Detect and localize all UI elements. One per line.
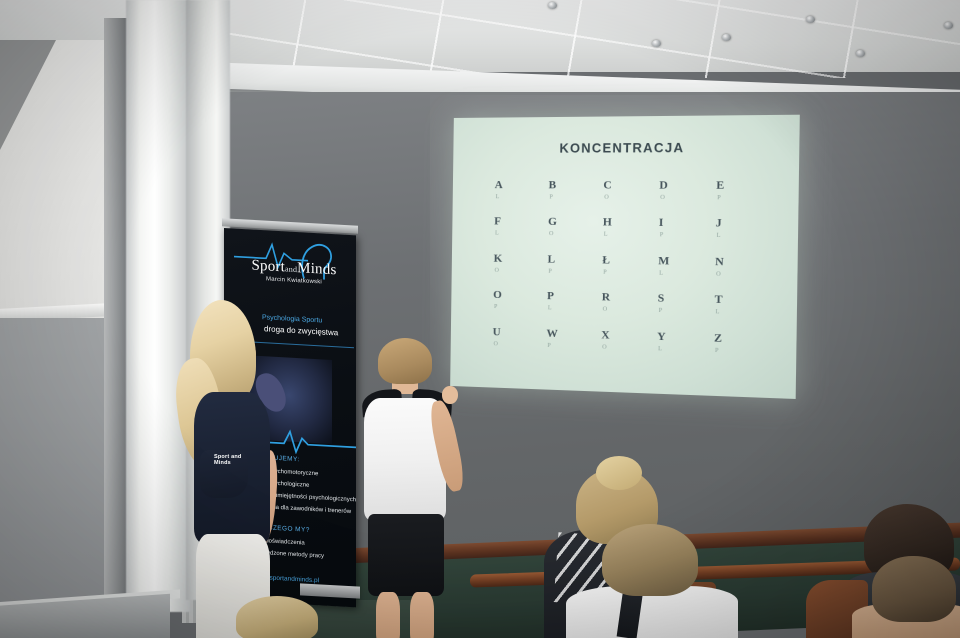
brand-sport: Sport — [251, 258, 285, 276]
letter-sub: L — [604, 232, 659, 239]
letter-main: H — [603, 218, 659, 230]
letter-main: X — [601, 330, 657, 343]
letter-sub: O — [493, 341, 546, 349]
letter-sub: L — [659, 270, 715, 277]
letter-main: G — [548, 217, 603, 229]
ceiling-spotlight-icon — [944, 22, 953, 29]
letter-sub: P — [494, 304, 547, 311]
presentation-room-photo: KONCENTRACJA ALBPCODOEPFLGOHLIPJLKOLPŁPM… — [0, 0, 960, 638]
audience-member-hair — [872, 556, 956, 622]
letter-sub: L — [717, 233, 774, 240]
letter-cell: FL — [494, 217, 548, 254]
boy-at-screen — [352, 338, 458, 638]
letter-main: S — [658, 293, 715, 306]
letter-sub: O — [604, 195, 659, 201]
letter-cell: OP — [493, 290, 547, 328]
letter-main: U — [493, 327, 547, 340]
letter-cell: YL — [657, 331, 714, 371]
letter-main: O — [493, 290, 547, 302]
letter-main: B — [548, 180, 603, 191]
ceiling-spotlight-icon — [722, 34, 731, 41]
letter-cell: AL — [494, 180, 548, 217]
letter-cell: BP — [548, 180, 603, 217]
letter-sub: P — [548, 268, 602, 275]
ceiling-spotlight-icon — [856, 50, 865, 57]
boy-shorts — [368, 514, 444, 596]
audience-member-hair — [602, 524, 698, 596]
presenter-shirt-logo: Sport and Minds — [214, 454, 248, 463]
letter-cell: SP — [657, 293, 715, 332]
letter-sub: P — [715, 347, 772, 355]
letter-sub: P — [603, 269, 658, 276]
letter-cell: RO — [601, 292, 657, 331]
slide-title: KONCENTRACJA — [453, 140, 799, 156]
letter-sub: O — [549, 231, 603, 238]
letter-sub: O — [660, 195, 716, 201]
letter-sub: P — [717, 195, 774, 202]
boy-hair — [378, 338, 432, 384]
letter-cell: LP — [547, 254, 602, 292]
letter-main: W — [546, 328, 601, 341]
letter-sub: P — [660, 233, 716, 240]
letter-sub: P — [659, 308, 715, 316]
letter-sub: L — [495, 231, 548, 238]
letter-sub: L — [658, 346, 714, 354]
letter-cell: JL — [715, 218, 774, 257]
letter-main: C — [603, 180, 659, 191]
letter-cell: GO — [548, 217, 603, 255]
boy-leg-right — [410, 592, 434, 638]
projected-slide: KONCENTRACJA ALBPCODOEPFLGOHLIPJLKOLPŁPM… — [450, 115, 800, 399]
boy-leg-left — [376, 592, 400, 638]
letter-sub: L — [496, 194, 549, 200]
ceiling-spotlight-icon — [548, 2, 557, 9]
letter-cell: HL — [602, 218, 658, 256]
boy-hand — [442, 386, 458, 404]
letter-cell: TL — [714, 295, 773, 335]
letter-cell: ML — [658, 256, 716, 295]
letter-main: Z — [714, 333, 772, 346]
left-wall-lower — [0, 318, 108, 638]
presenter-woman: Sport and Minds — [168, 300, 280, 638]
letter-grid: ALBPCODOEPFLGOHLIPJLKOLPŁPMLNOOPPLROSPTL… — [492, 180, 774, 373]
letter-main: K — [494, 253, 548, 265]
letter-cell: ŁP — [602, 255, 658, 294]
letter-main: F — [494, 217, 548, 229]
left-wall-corner — [0, 40, 56, 150]
letter-main: I — [659, 218, 716, 230]
letter-cell: EP — [716, 180, 775, 219]
letter-main: R — [602, 292, 658, 305]
brand-and: and — [285, 264, 297, 274]
letter-main: J — [716, 218, 774, 230]
letter-cell: WP — [546, 328, 601, 367]
letter-cell: PL — [547, 291, 602, 329]
letter-main: D — [659, 180, 716, 192]
letter-sub: O — [603, 307, 658, 314]
letter-sub: P — [549, 194, 603, 200]
letter-main: E — [716, 180, 774, 192]
projection-screen: KONCENTRACJA ALBPCODOEPFLGOHLIPJLKOLPŁPM… — [450, 115, 800, 399]
letter-cell: NO — [715, 257, 774, 296]
ceiling-spotlight-icon — [806, 16, 815, 23]
letter-cell: ZP — [714, 333, 773, 373]
letter-sub: O — [716, 271, 773, 278]
brand-minds: Minds — [297, 260, 336, 278]
letter-main: L — [547, 254, 602, 266]
ceiling-spotlight-icon — [652, 40, 661, 47]
letter-main: M — [658, 256, 715, 268]
audience-member-hair — [236, 596, 318, 638]
letter-cell: UO — [492, 327, 546, 365]
letter-cell: KO — [493, 253, 547, 291]
letter-main: Ł — [602, 255, 658, 267]
letter-cell: XO — [601, 330, 657, 369]
letter-sub: O — [602, 344, 657, 352]
letter-cell: DO — [659, 180, 717, 218]
letter-sub: P — [547, 342, 601, 350]
letter-main: A — [495, 180, 549, 191]
letter-main: N — [715, 257, 773, 269]
letter-sub: L — [548, 305, 602, 312]
letter-main: P — [547, 291, 602, 303]
letter-cell: IP — [658, 218, 716, 257]
audience-member-hair-bun — [596, 456, 642, 490]
letter-main: T — [715, 295, 773, 308]
letter-main: Y — [657, 331, 714, 344]
letter-sub: O — [494, 268, 547, 275]
letter-sub: L — [716, 309, 773, 317]
letter-cell: CO — [603, 180, 659, 218]
